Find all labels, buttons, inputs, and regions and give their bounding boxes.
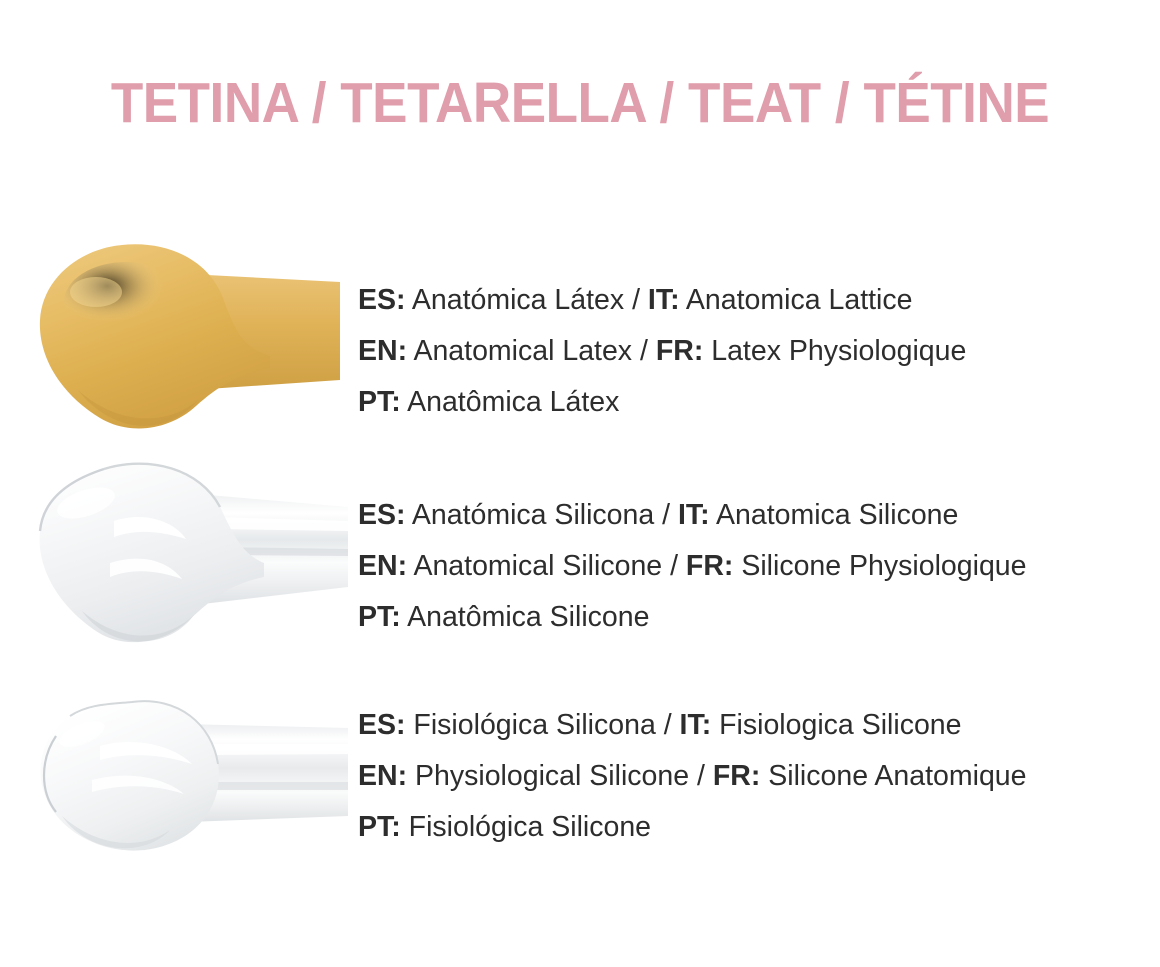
separator: /: [664, 709, 672, 741]
separator: /: [640, 335, 648, 367]
lang-value-it: Fisiologica Silicone: [711, 709, 961, 741]
language-line: ES: Fisiológica Silicona / IT: Fisiologi…: [358, 700, 1148, 751]
lang-value-pt: Anatômica Látex: [401, 386, 620, 418]
lang-code-fr: FR:: [678, 550, 733, 582]
teat-reference-sheet: TETINA / TETARELLA / TEAT / TÉTINE: [0, 0, 1160, 967]
anatomical-latex-teat-icon: [18, 240, 340, 435]
page-title: TETINA / TETARELLA / TEAT / TÉTINE: [41, 72, 1120, 134]
product-text-cell: ES: Anatómica Silicona / IT: Anatomica S…: [358, 450, 1148, 705]
lang-code-es: ES:: [358, 284, 406, 316]
product-image-cell: [0, 680, 350, 865]
lang-code-es: ES:: [358, 709, 406, 741]
lang-value-fr: Silicone Anatomique: [760, 760, 1026, 792]
lang-value-it: Anatomica Lattice: [680, 284, 913, 316]
lang-code-pt: PT:: [358, 811, 401, 843]
lang-code-en: EN:: [358, 760, 407, 792]
lang-code-it: IT:: [670, 499, 710, 531]
lang-value-es: Anatómica Látex: [406, 284, 633, 316]
lang-code-it: IT:: [640, 284, 680, 316]
anatomical-silicone-teat-icon: [18, 455, 348, 655]
lang-value-fr: Latex Physiologique: [703, 335, 966, 367]
language-line: EN: Anatomical Latex / FR: Latex Physiol…: [358, 326, 1148, 377]
product-image-cell: [0, 235, 350, 440]
separator: /: [662, 499, 670, 531]
lang-code-pt: PT:: [358, 386, 401, 418]
lang-value-es: Fisiológica Silicona: [406, 709, 664, 741]
language-line: PT: Fisiológica Silicone: [358, 802, 1148, 853]
product-row: ES: Fisiológica Silicona / IT: Fisiologi…: [0, 680, 1160, 865]
language-line: ES: Anatómica Látex / IT: Anatomica Latt…: [358, 275, 1148, 326]
lang-value-pt: Fisiológica Silicone: [401, 811, 651, 843]
language-line: ES: Anatómica Silicona / IT: Anatomica S…: [358, 490, 1148, 541]
lang-value-es: Anatómica Silicona: [406, 499, 663, 531]
physiological-silicone-teat-icon: [22, 698, 348, 863]
language-line: PT: Anatômica Silicone: [358, 592, 1148, 643]
product-image-cell: [0, 450, 350, 665]
separator: /: [697, 760, 705, 792]
lang-value-en: Anatomical Silicone: [407, 550, 670, 582]
language-line: EN: Anatomical Silicone / FR: Silicone P…: [358, 541, 1148, 592]
lang-value-it: Anatomica Silicone: [710, 499, 959, 531]
language-line: EN: Physiological Silicone / FR: Silicon…: [358, 751, 1148, 802]
lang-value-en: Physiological Silicone: [407, 760, 697, 792]
lang-code-en: EN:: [358, 550, 407, 582]
product-text-cell: ES: Fisiológica Silicona / IT: Fisiologi…: [358, 680, 1148, 885]
lang-value-en: Anatomical Latex: [407, 335, 640, 367]
product-row: ES: Anatómica Látex / IT: Anatomica Latt…: [0, 235, 1160, 440]
product-row: ES: Anatómica Silicona / IT: Anatomica S…: [0, 450, 1160, 665]
product-text-cell: ES: Anatómica Látex / IT: Anatomica Latt…: [358, 235, 1148, 480]
separator: /: [632, 284, 640, 316]
lang-value-fr: Silicone Physiologique: [733, 550, 1026, 582]
lang-code-it: IT:: [672, 709, 712, 741]
lang-code-es: ES:: [358, 499, 406, 531]
lang-value-pt: Anatômica Silicone: [401, 601, 650, 633]
lang-code-fr: FR:: [705, 760, 760, 792]
language-line: PT: Anatômica Látex: [358, 377, 1148, 428]
lang-code-en: EN:: [358, 335, 407, 367]
separator: /: [670, 550, 678, 582]
lang-code-pt: PT:: [358, 601, 401, 633]
lang-code-fr: FR:: [648, 335, 703, 367]
